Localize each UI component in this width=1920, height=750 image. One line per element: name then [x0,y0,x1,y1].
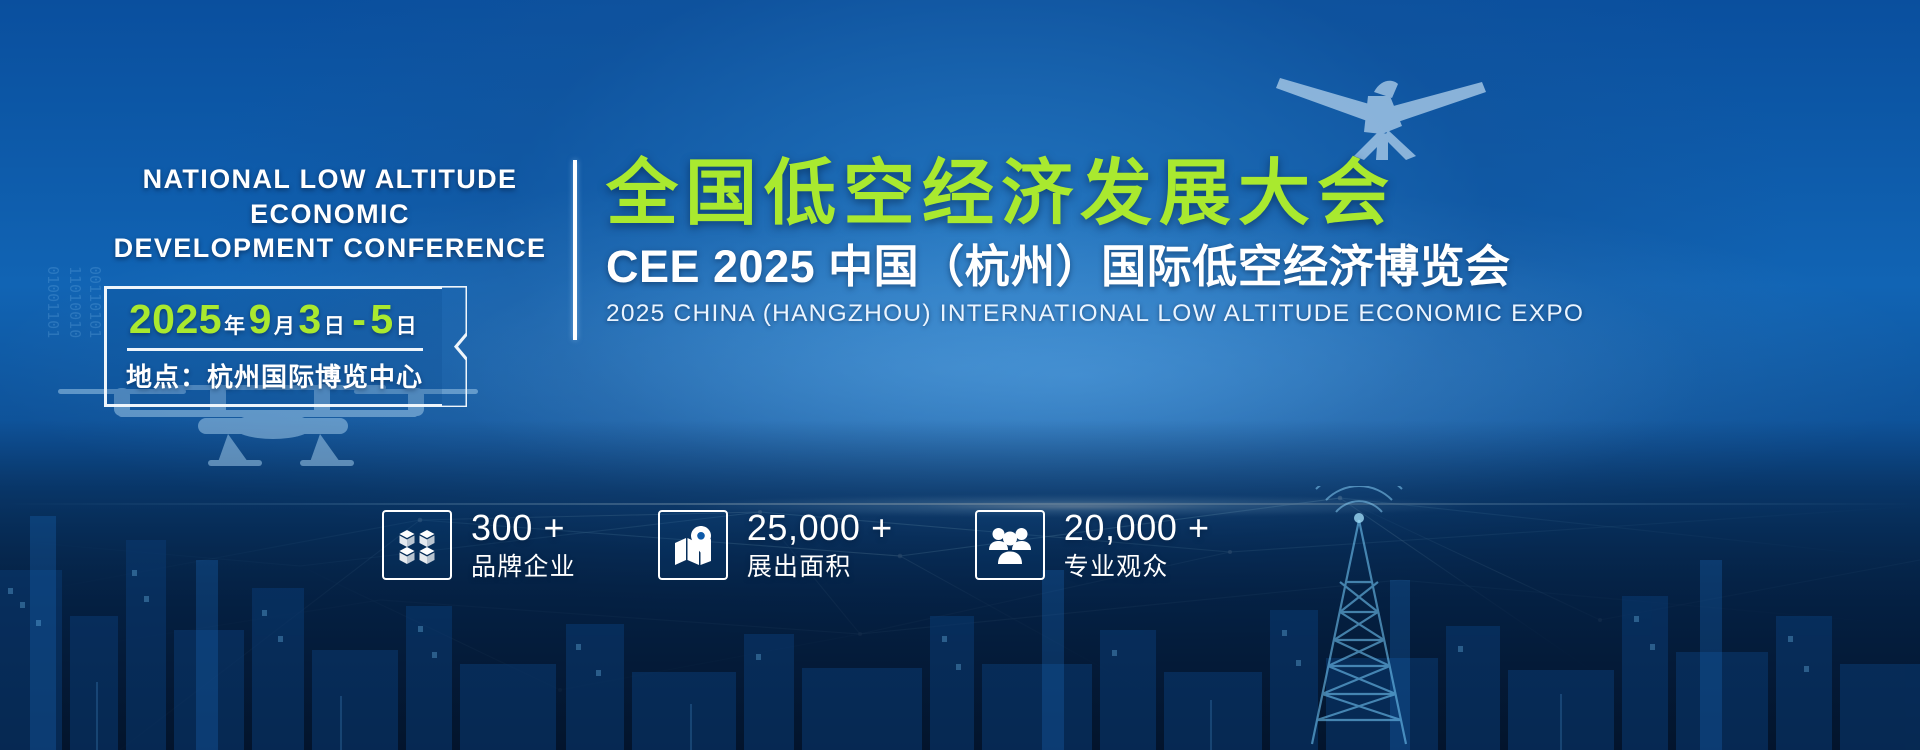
event-date: 2025年9月3日-5日 [107,297,442,341]
english-conference-title: NATIONAL LOW ALTITUDE ECONOMIC DEVELOPME… [104,162,556,266]
date-day-unit: 日 [324,315,346,338]
date-year: 2025 [129,296,222,342]
stat-value: 300 + [471,510,576,546]
date-day-end: 5 [370,296,393,342]
stat-text-brands: 300 + 品牌企业 [471,510,576,580]
people-icon [975,510,1045,580]
boxes-icon [382,510,452,580]
conference-banner: 01001101 11010010 00110101 NATIONAL LOW … [0,0,1920,750]
event-venue: 地点：杭州国际博览中心 [107,357,442,394]
chinese-subtitle: CEE 2025 中国（杭州）国际低空经济博览会 [606,243,1584,291]
stat-value: 20,000 + [1064,510,1210,546]
stat-value: 25,000 + [747,510,893,546]
stats-row: 300 + 品牌企业 [382,510,1210,580]
ticket-divider [127,348,423,351]
stat-item-visitors: 20,000 + 专业观众 [975,510,1210,580]
stat-label: 专业观众 [1064,555,1210,580]
date-day-end-unit: 日 [396,315,418,338]
right-title-block: 全国低空经济发展大会 CEE 2025 中国（杭州）国际低空经济博览会 2025… [606,158,1584,328]
banner-content: NATIONAL LOW ALTITUDE ECONOMIC DEVELOPME… [0,0,1920,750]
stat-text-area: 25,000 + 展出面积 [747,510,893,580]
date-month-unit: 月 [274,315,296,338]
stat-item-brands: 300 + 品牌企业 [382,510,576,580]
map-pin-icon [658,510,728,580]
stat-item-area: 25,000 + 展出面积 [658,510,893,580]
left-title-block: NATIONAL LOW ALTITUDE ECONOMIC DEVELOPME… [104,162,556,407]
stat-label: 展出面积 [747,555,893,580]
date-month: 9 [249,296,272,342]
vertical-divider [573,160,577,340]
date-year-unit: 年 [224,315,246,338]
date-range-dash: - [352,296,366,342]
date-day-start: 3 [298,296,321,342]
english-subtitle: 2025 CHINA (HANGZHOU) INTERNATIONAL LOW … [606,300,1584,328]
ticket-notch [442,286,467,407]
stat-label: 品牌企业 [471,555,576,580]
date-venue-ticket: 2025年9月3日-5日 地点：杭州国际博览中心 [104,286,442,407]
stat-text-visitors: 20,000 + 专业观众 [1064,510,1210,580]
chinese-main-title: 全国低空经济发展大会 [606,158,1584,231]
